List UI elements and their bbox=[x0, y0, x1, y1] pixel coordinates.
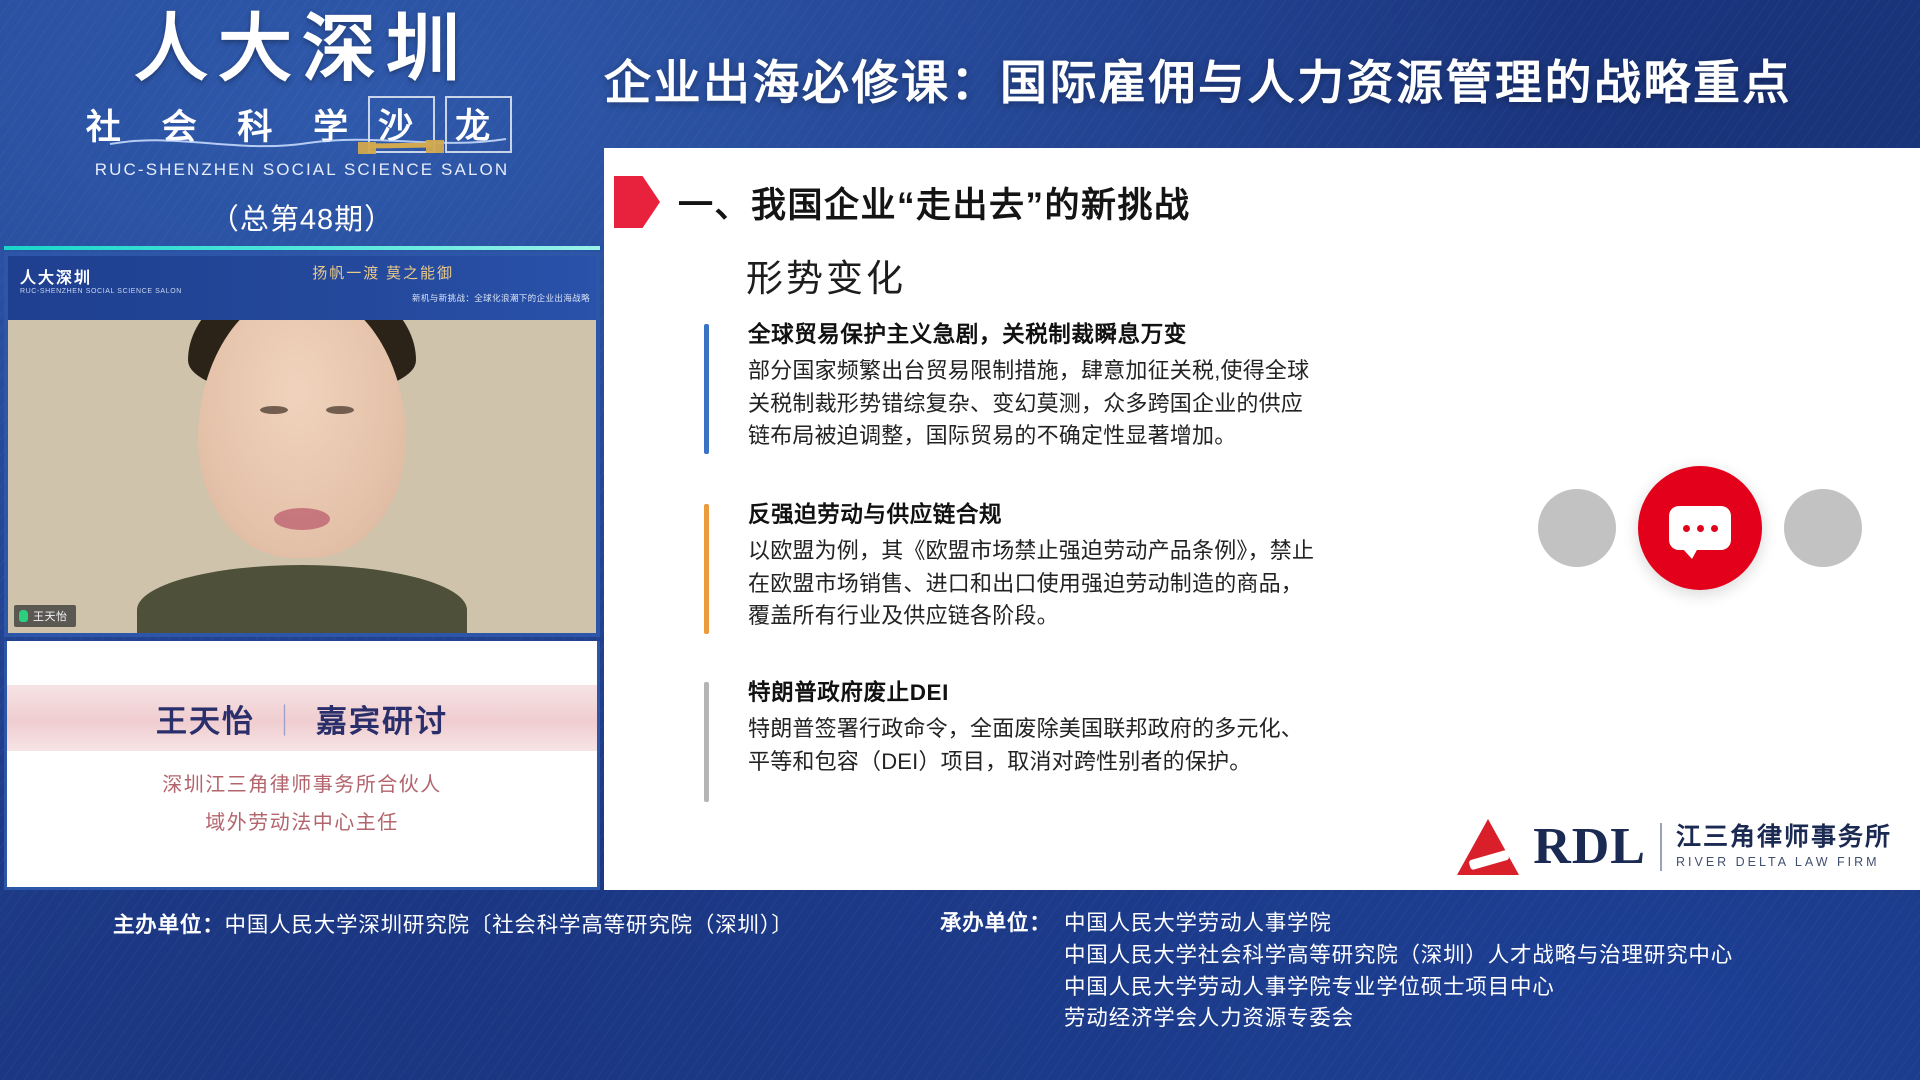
slide-heading-text: 一、我国企业“走出去”的新挑战 bbox=[678, 177, 1191, 228]
speaker-role: 嘉宾研讨 bbox=[316, 696, 448, 741]
footer-co-label: 承办单位： bbox=[940, 908, 1064, 940]
bullet-body: 以欧盟为例，其《欧盟市场禁止强迫劳动产品条例》，禁止在欧盟市场销售、进口和出口使… bbox=[748, 535, 1324, 633]
brand-issue-number: （总第48期） bbox=[0, 196, 604, 238]
footer-co-row: 承办单位： 中国人民大学劳动人事学院 bbox=[940, 908, 1733, 940]
reaction-button-group[interactable] bbox=[1538, 466, 1862, 590]
microphone-icon bbox=[19, 610, 28, 622]
law-firm-logo: RDL 江三角律师事务所 RIVER DELTA LAW FIRM bbox=[1457, 817, 1892, 876]
speaker-info-card: 王天怡 ｜ 嘉宾研讨 深圳江三角律师事务所合伙人 域外劳动法中心主任 bbox=[4, 641, 600, 890]
slide-bullet: 全球贸易保护主义急剧，关税制裁瞬息万变 部分国家频繁出台贸易限制措施，肆意加征关… bbox=[704, 320, 1324, 453]
footer-co-spacer bbox=[940, 972, 1064, 1004]
slide-heading: 一、我国企业“走出去”的新挑战 bbox=[614, 176, 1191, 228]
video-nametag-label: 王天怡 bbox=[33, 608, 68, 624]
presentation-slide: 一、我国企业“走出去”的新挑战 形势变化 全球贸易保护主义急剧，关税制裁瞬息万变… bbox=[604, 148, 1920, 890]
reaction-placeholder-right-icon[interactable] bbox=[1784, 489, 1862, 567]
brand-subtitle-plain: 社 会 科 学 bbox=[86, 99, 364, 150]
speaker-name-band: 王天怡 ｜ 嘉宾研讨 bbox=[7, 685, 597, 751]
footer-co-row: 中国人民大学劳动人事学院专业学位硕士项目中心 bbox=[940, 972, 1733, 1004]
footer-co-organizers: 承办单位： 中国人民大学劳动人事学院 中国人民大学社会科学高等研究院（深圳）人才… bbox=[940, 908, 1733, 1035]
brand-subtitle-boxed-1: 沙 bbox=[368, 96, 435, 153]
footer-co-value: 劳动经济学会人力资源专委会 bbox=[1064, 1003, 1354, 1035]
footer-co-row: 中国人民大学社会科学高等研究院（深圳）人才战略与治理研究中心 bbox=[940, 940, 1733, 972]
footer-co-value: 中国人民大学劳动人事学院 bbox=[1064, 908, 1332, 940]
video-slide-banner: 人大深圳 RUC-SHENZHEN SOCIAL SCIENCE SALON 扬… bbox=[8, 256, 600, 320]
video-nametag: 王天怡 bbox=[14, 605, 76, 627]
chevron-right-icon bbox=[614, 176, 660, 228]
firm-name-cn: 江三角律师事务所 bbox=[1676, 823, 1892, 853]
firm-name-en: RIVER DELTA LAW FIRM bbox=[1676, 855, 1892, 870]
bullet-accent-bar bbox=[704, 324, 709, 454]
bullet-accent-bar bbox=[704, 504, 709, 634]
footer-co-spacer bbox=[940, 1003, 1064, 1035]
speaker-affiliation-line-1: 深圳江三角律师事务所合伙人 bbox=[7, 770, 597, 801]
left-panel: 人大深圳 社 会 科 学 沙 龙 RUC-SHENZHEN SOCIAL SCI… bbox=[0, 0, 604, 890]
video-banner-title: 扬帆一渡 莫之能御 bbox=[312, 262, 454, 283]
bullet-title: 反强迫劳动与供应链合规 bbox=[748, 500, 1324, 530]
webinar-stage: 人大深圳 社 会 科 学 沙 龙 RUC-SHENZHEN SOCIAL SCI… bbox=[0, 0, 1920, 1080]
footer-co-value: 中国人民大学社会科学高等研究院（深圳）人才战略与治理研究中心 bbox=[1064, 940, 1733, 972]
triangle-shape bbox=[1457, 819, 1519, 875]
video-person-eye-left bbox=[260, 406, 288, 414]
footer-host-value: 中国人民大学深圳研究院〔社会科学高等研究院（深圳）〕 bbox=[225, 913, 794, 937]
chat-dot bbox=[1683, 525, 1690, 532]
speaker-affiliation-line-2: 域外劳动法中心主任 bbox=[7, 808, 597, 839]
brand-subtitle-boxed-2: 龙 bbox=[445, 96, 512, 153]
slide-bullet: 特朗普政府废止DEI 特朗普签署行政命令，全面废除美国联邦政府的多元化、平等和包… bbox=[704, 678, 1324, 778]
video-banner-logo-cn: 人大深圳 bbox=[20, 264, 92, 288]
footer: 主办单位：中国人民大学深圳研究院〔社会科学高等研究院（深圳）〕 承办单位： 中国… bbox=[0, 890, 1920, 1080]
chat-bubble-icon bbox=[1669, 506, 1731, 550]
speaker-name: 王天怡 bbox=[156, 696, 255, 741]
bullet-body: 特朗普签署行政命令，全面废除美国联邦政府的多元化、平等和包容（DEI）项目，取消… bbox=[748, 713, 1324, 778]
firm-logo-divider bbox=[1660, 823, 1662, 871]
video-person-mouth bbox=[274, 508, 330, 530]
footer-co-row: 劳动经济学会人力资源专委会 bbox=[940, 1003, 1733, 1035]
bullet-title: 全球贸易保护主义急剧，关税制裁瞬息万变 bbox=[748, 320, 1324, 350]
speaker-video-tile[interactable]: 人大深圳 RUC-SHENZHEN SOCIAL SCIENCE SALON 扬… bbox=[4, 252, 600, 637]
video-person-eye-right bbox=[326, 406, 354, 414]
slide-bullet: 反强迫劳动与供应链合规 以欧盟为例，其《欧盟市场禁止强迫劳动产品条例》，禁止在欧… bbox=[704, 500, 1324, 633]
bullet-title: 特朗普政府废止DEI bbox=[748, 678, 1324, 708]
chat-dot bbox=[1711, 525, 1718, 532]
firm-name-block: 江三角律师事务所 RIVER DELTA LAW FIRM bbox=[1676, 823, 1892, 870]
chat-bubble-button[interactable] bbox=[1638, 466, 1762, 590]
brand-divider-rule bbox=[4, 246, 600, 250]
slide-section-title: 形势变化 bbox=[746, 248, 906, 302]
footer-host-label: 主办单位： bbox=[113, 913, 225, 937]
speaker-name-divider: ｜ bbox=[269, 696, 302, 741]
chat-dot bbox=[1697, 525, 1704, 532]
page-title: 企业出海必修课：国际雇佣与人力资源管理的战略重点 bbox=[604, 42, 1904, 114]
reaction-placeholder-left-icon[interactable] bbox=[1538, 489, 1616, 567]
footer-host-organizer: 主办单位：中国人民大学深圳研究院〔社会科学高等研究院（深圳）〕 bbox=[113, 908, 794, 939]
rdl-triangle-icon bbox=[1457, 819, 1519, 875]
video-person-shoulders bbox=[137, 565, 467, 637]
firm-abbreviation: RDL bbox=[1533, 817, 1646, 876]
footer-co-value: 中国人民大学劳动人事学院专业学位硕士项目中心 bbox=[1064, 972, 1555, 1004]
brand-subtitle: 社 会 科 学 沙 龙 bbox=[0, 96, 604, 153]
brand-title: 人大深圳 bbox=[0, 12, 604, 90]
salon-branding: 人大深圳 社 会 科 学 沙 龙 RUC-SHENZHEN SOCIAL SCI… bbox=[0, 12, 604, 264]
speaker-name-row: 王天怡 ｜ 嘉宾研讨 bbox=[156, 696, 448, 741]
footer-co-spacer bbox=[940, 940, 1064, 972]
bullet-accent-bar bbox=[704, 682, 709, 802]
video-banner-subtitle: 新机与新挑战：全球化浪潮下的企业出海战略 bbox=[412, 292, 590, 304]
bullet-body: 部分国家频繁出台贸易限制措施，肆意加征关税,使得全球关税制裁形势错综复杂、变幻莫… bbox=[748, 355, 1324, 453]
brand-english-name: RUC-SHENZHEN SOCIAL SCIENCE SALON bbox=[0, 160, 604, 180]
video-banner-logo-en: RUC-SHENZHEN SOCIAL SCIENCE SALON bbox=[20, 288, 182, 295]
